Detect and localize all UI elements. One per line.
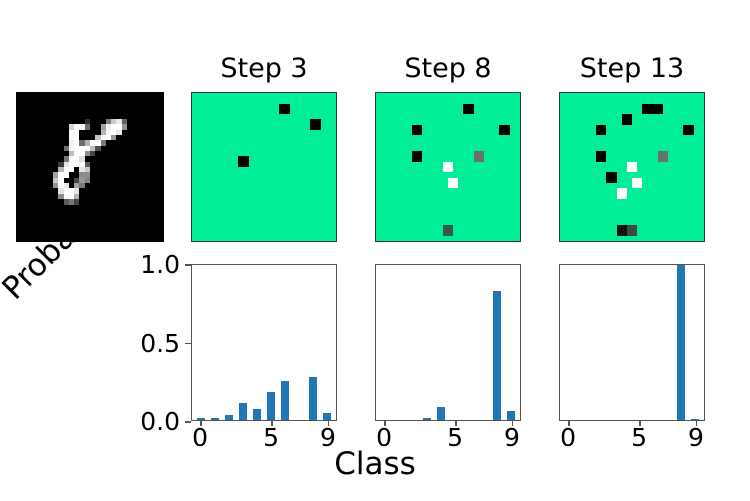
- bar-series-1: [376, 265, 520, 420]
- perturbation-map-0[interactable]: [191, 92, 337, 242]
- probability-chart-1[interactable]: [375, 264, 521, 421]
- perturbation-map-2[interactable]: [559, 92, 705, 242]
- x-axis-title: Class: [0, 447, 750, 481]
- perturbation-pixel-grid-0: [192, 93, 336, 241]
- bar-series-0: [192, 265, 336, 420]
- perturbation-pixel-grid-2: [560, 93, 704, 241]
- perturbation-pixel-grid-1: [376, 93, 520, 241]
- y-axis-tick-labels: 0.00.51.0: [110, 258, 180, 428]
- perturbation-map-1[interactable]: [375, 92, 521, 242]
- step-title-0: Step 3: [191, 54, 337, 84]
- step-title-1: Step 8: [375, 54, 521, 84]
- probability-chart-0[interactable]: [191, 264, 337, 421]
- figure-canvas: Step 3 Step 8 Step 13 0.00.51.0 Probabil…: [0, 0, 750, 501]
- bar-series-2: [560, 265, 704, 420]
- probability-chart-2[interactable]: [559, 264, 705, 421]
- step-title-2: Step 13: [559, 54, 705, 84]
